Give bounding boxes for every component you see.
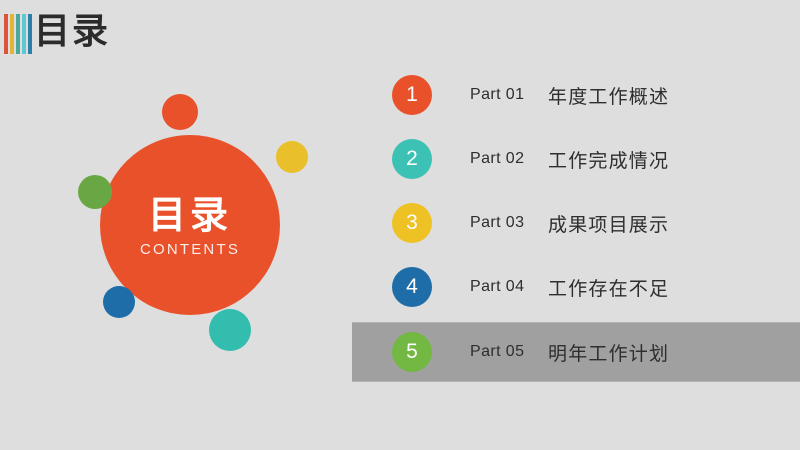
toc-badge-2[interactable]: 2 xyxy=(392,139,432,179)
toc-title-4: 工作存在不足 xyxy=(548,274,669,301)
bubble-yellow xyxy=(276,141,308,173)
toc-part-label-4: Part 04 xyxy=(470,278,524,296)
accent-bar-group xyxy=(4,14,32,54)
accent-bar-red xyxy=(4,14,8,54)
bubble-green xyxy=(78,175,112,209)
toc-title-2: 工作完成情况 xyxy=(548,146,669,173)
toc-badge-1[interactable]: 1 xyxy=(392,75,432,115)
accent-bar-teal xyxy=(16,14,20,54)
toc-part-label-1: Part 01 xyxy=(470,86,524,104)
contents-list: 1Part 01年度工作概述2Part 02工作完成情况3Part 03成果项目… xyxy=(352,66,800,386)
toc-title-5: 明年工作计划 xyxy=(548,339,669,366)
toc-title-1: 年度工作概述 xyxy=(548,82,669,109)
toc-badge-4[interactable]: 4 xyxy=(392,267,432,307)
toc-title-3: 成果项目展示 xyxy=(548,210,669,237)
slide-header: 目录 xyxy=(0,0,800,62)
toc-part-label-2: Part 02 xyxy=(470,150,524,168)
toc-badge-3[interactable]: 3 xyxy=(392,203,432,243)
accent-bar-blue xyxy=(28,14,32,54)
bubble-orange xyxy=(162,94,198,130)
toc-item-4[interactable]: 4Part 04工作存在不足 xyxy=(352,258,800,316)
toc-part-label-5: Part 05 xyxy=(470,343,524,361)
bubble-blue xyxy=(103,286,135,318)
toc-item-2[interactable]: 2Part 02工作完成情况 xyxy=(352,130,800,188)
accent-bar-yellow xyxy=(10,14,14,54)
main-bubble-label-en: CONTENTS xyxy=(140,241,240,258)
toc-item-5[interactable]: 5Part 05明年工作计划 xyxy=(352,322,800,382)
bubble-teal xyxy=(209,309,251,351)
page-title: 目录 xyxy=(34,8,110,56)
toc-badge-5[interactable]: 5 xyxy=(392,332,432,372)
accent-bar-cyan xyxy=(22,14,26,54)
main-bubble-label-cn: 目录 xyxy=(148,193,232,237)
contents-graphic: 目录 CONTENTS xyxy=(60,80,350,370)
toc-item-1[interactable]: 1Part 01年度工作概述 xyxy=(352,66,800,124)
toc-item-3[interactable]: 3Part 03成果项目展示 xyxy=(352,194,800,252)
toc-part-label-3: Part 03 xyxy=(470,214,524,232)
